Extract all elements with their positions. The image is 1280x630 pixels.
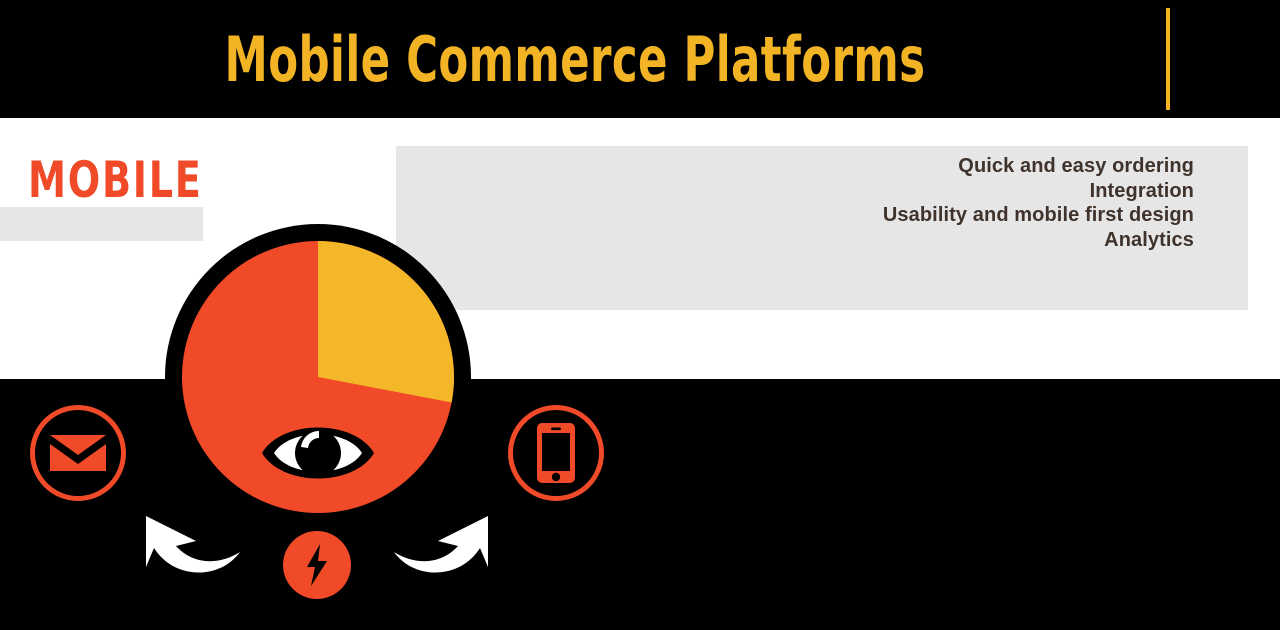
page-title: Mobile Commerce Platforms [127, 22, 1024, 98]
lightning-bolt-icon [305, 544, 329, 586]
badge-mail[interactable] [30, 405, 126, 501]
curved-arrow-right-icon [388, 512, 494, 582]
feature-item-3: Usability and mobile first design [494, 203, 1194, 228]
badge-bolt[interactable] [283, 531, 351, 599]
feature-item-4: Analytics [494, 228, 1194, 253]
pie-chart-slices [182, 241, 454, 513]
feature-item-2: Integration [494, 179, 1194, 204]
header-divider-rule [1166, 8, 1170, 110]
curved-arrow-left-icon [140, 512, 246, 582]
feature-item-1: Quick and easy ordering [494, 154, 1194, 179]
envelope-icon [48, 431, 108, 475]
mobile-label: MOBILE [28, 152, 203, 208]
pie-slice-secondary [318, 241, 454, 402]
infographic-canvas: Mobile Commerce Platforms MOBILE Quick a… [0, 0, 1280, 630]
pie-chart [165, 224, 471, 530]
smartphone-icon [534, 422, 578, 484]
feature-list: Quick and easy ordering Integration Usab… [494, 154, 1194, 252]
badge-phone[interactable] [508, 405, 604, 501]
